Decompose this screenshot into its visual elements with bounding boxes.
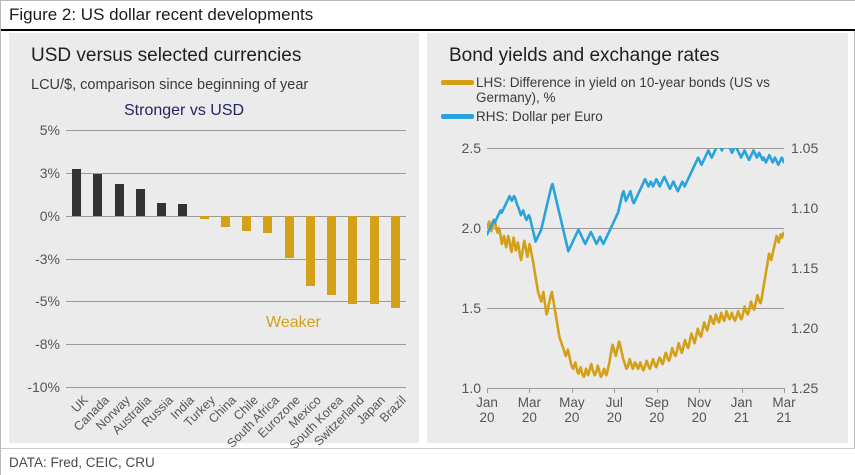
line-chart-plot-area: 1.01.52.02.51.051.101.151.201.25Jan20Mar… — [487, 148, 784, 388]
x-axis-year-label: 20 — [559, 410, 585, 425]
bar-canada — [93, 174, 102, 215]
x-axis-tickmark — [699, 388, 700, 393]
x-axis-year-label: 20 — [518, 410, 541, 425]
x-axis-month-label: May — [559, 395, 585, 410]
right-axis-tick-label: 1.05 — [791, 140, 818, 156]
left-chart-panel: USD versus selected currencies LCU/$, co… — [9, 33, 419, 443]
series-line-fx — [487, 148, 784, 251]
bar-russia — [157, 203, 166, 216]
x-axis-tick-group: Jul20 — [606, 395, 623, 425]
bar-chart-plot-area: Stronger vs USD Weaker 5%3%0%-3%-5%-8%-1… — [66, 130, 406, 387]
annotation-weaker: Weaker — [266, 314, 321, 332]
x-axis-year-label: 21 — [772, 410, 795, 425]
gridline — [66, 387, 406, 388]
bar-chile — [242, 216, 251, 232]
x-axis-tickmark — [487, 388, 488, 393]
x-axis-month-label: Jan — [476, 395, 498, 410]
x-axis-year-label: 21 — [731, 410, 753, 425]
x-axis-tickmark — [742, 388, 743, 393]
bar-south-africa — [263, 216, 272, 233]
gridline — [487, 388, 784, 389]
right-panel-title: Bond yields and exchange rates — [449, 45, 719, 67]
y-axis-tick-label: -8% — [35, 336, 60, 352]
annotation-stronger-vs-usd: Stronger vs USD — [124, 102, 244, 120]
legend-swatch-yield-icon — [441, 80, 474, 85]
x-axis-tickmark — [657, 388, 658, 393]
right-axis-tick-label: 1.25 — [791, 380, 818, 396]
bar-norway — [115, 184, 124, 215]
bar-australia — [136, 189, 145, 216]
gridline — [66, 130, 406, 131]
x-axis-year-label: 20 — [606, 410, 623, 425]
x-axis-month-label: Nov — [687, 395, 711, 410]
x-axis-month-label: Jul — [606, 395, 623, 410]
bar-south-korea — [327, 216, 336, 295]
x-axis-tickmark — [614, 388, 615, 393]
x-axis-tick-group: May20 — [559, 395, 585, 425]
x-axis-month-label: Jan — [731, 395, 753, 410]
x-axis-tick-group: Jan20 — [476, 395, 498, 425]
x-axis-month-label: Mar — [518, 395, 541, 410]
right-axis-tick-label: 1.15 — [791, 260, 818, 276]
right-axis-tick-label: 1.10 — [791, 200, 818, 216]
right-axis-tick-label: 1.20 — [791, 320, 818, 336]
y-axis-tick-label: 5% — [40, 122, 60, 138]
x-axis-year-label: 20 — [687, 410, 711, 425]
x-axis-tick-group: Jan21 — [731, 395, 753, 425]
figure-title: Figure 2: US dollar recent developments — [1, 1, 855, 31]
bar-china — [221, 216, 230, 227]
x-axis-tickmark — [572, 388, 573, 393]
legend-label-fx: RHS: Dollar per Euro — [476, 109, 603, 124]
bar-switzerland — [348, 216, 357, 305]
legend-label-yield: LHS: Difference in yield on 10-year bond… — [476, 75, 806, 105]
left-axis-tick-label: 1.0 — [462, 380, 481, 396]
legend-item-fx: RHS: Dollar per Euro — [441, 109, 603, 124]
series-line-yield — [487, 220, 784, 377]
x-axis-year-label: 20 — [476, 410, 498, 425]
left-axis-tick-label: 1.5 — [462, 300, 481, 316]
y-axis-tick-label: 0% — [40, 208, 60, 224]
x-axis-tick-group: Sep20 — [645, 395, 669, 425]
legend-item-yield: LHS: Difference in yield on 10-year bond… — [441, 75, 806, 105]
gridline — [66, 173, 406, 174]
bar-india — [178, 204, 187, 215]
gridline — [66, 344, 406, 345]
x-axis-tickmark — [529, 388, 530, 393]
right-chart-panel: Bond yields and exchange rates LHS: Diff… — [427, 33, 848, 443]
x-axis-month-label: Mar — [772, 395, 795, 410]
x-axis-tickmark — [784, 388, 785, 393]
bar-uk — [72, 169, 81, 216]
y-axis-tick-label: 3% — [40, 165, 60, 181]
y-axis-tick-label: -3% — [35, 251, 60, 267]
x-axis-month-label: Sep — [645, 395, 669, 410]
x-axis-tick-group: Mar21 — [772, 395, 795, 425]
x-axis-tick-group: Mar20 — [518, 395, 541, 425]
left-axis-tick-label: 2.0 — [462, 220, 481, 236]
left-panel-subtitle: LCU/$, comparison since beginning of yea… — [31, 77, 308, 93]
bar-mexico — [306, 216, 315, 287]
y-axis-tick-label: -10% — [27, 379, 60, 395]
source-note: DATA: Fred, CEIC, CRU — [1, 448, 855, 475]
left-panel-title: USD versus selected currencies — [31, 45, 301, 67]
y-axis-tick-label: -5% — [35, 293, 60, 309]
bar-eurozone — [285, 216, 294, 259]
line-series-svg — [487, 148, 784, 388]
figure-container: Figure 2: US dollar recent developments … — [0, 0, 855, 475]
bar-turkey — [200, 216, 209, 219]
bar-japan — [370, 216, 379, 305]
x-axis-tick-group: Nov20 — [687, 395, 711, 425]
x-axis-year-label: 20 — [645, 410, 669, 425]
bar-brazil — [391, 216, 400, 309]
left-axis-tick-label: 2.5 — [462, 140, 481, 156]
legend-swatch-fx-icon — [441, 114, 474, 119]
